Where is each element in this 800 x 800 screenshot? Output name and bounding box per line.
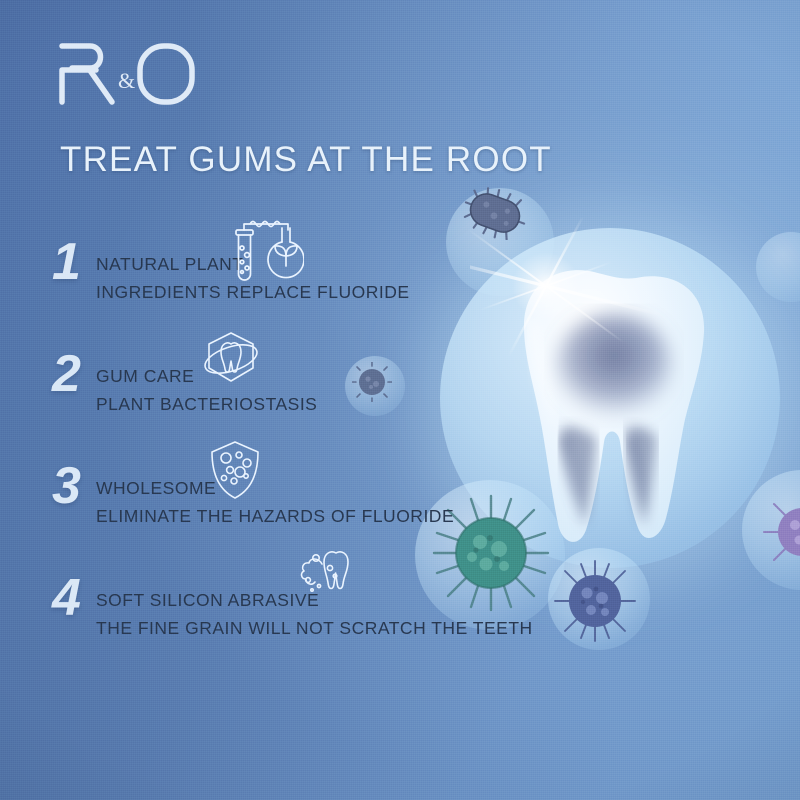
feature-line-2: ELIMINATE THE HAZARDS OF FLUORIDE bbox=[96, 502, 566, 530]
feature-item-1: 1 NATURAL PLANT INGREDIENTS REPLACE FLUO… bbox=[46, 232, 566, 344]
feature-line-1: NATURAL PLANT bbox=[96, 250, 244, 278]
purple-spiky-virus-icon bbox=[762, 492, 800, 572]
feature-text: SOFT SILICON ABRASIVE THE FINE GRAIN WIL… bbox=[96, 586, 566, 643]
page-title: TREAT GUMS AT THE ROOT bbox=[60, 140, 552, 180]
feature-text: GUM CARE PLANT BACTERIOSTASIS bbox=[96, 362, 566, 419]
feature-line-2: INGREDIENTS REPLACE FLUORIDE bbox=[96, 278, 566, 306]
feature-line-1: WHOLESOME bbox=[96, 474, 216, 502]
poster-canvas: & R&O TREAT GUMS AT THE ROOT 1 NATURAL P… bbox=[0, 0, 800, 800]
feature-line-2: THE FINE GRAIN WILL NOT SCRATCH THE TEET… bbox=[96, 614, 566, 642]
feature-line-2: PLANT BACTERIOSTASIS bbox=[96, 390, 566, 418]
feature-text: WHOLESOME ELIMINATE THE HAZARDS OF FLUOR… bbox=[96, 474, 566, 531]
feature-item-2: 2 GUM CARE PLANT BACTERIOSTASIS bbox=[46, 344, 566, 456]
feature-line-1: SOFT SILICON ABRASIVE bbox=[96, 586, 319, 614]
halo-bubble-top-right bbox=[756, 232, 800, 302]
brand-logo: & R&O bbox=[56, 36, 246, 106]
feature-item-3: 3 WHOLESOME ELIMINATE THE HAZARDS OF FLU… bbox=[46, 456, 566, 568]
feature-line-1: GUM CARE bbox=[96, 362, 194, 390]
feature-item-4: 4 SOFT SILICON ABRASIVE THE FINE GRAIN W… bbox=[46, 568, 566, 680]
feature-number: 2 bbox=[52, 348, 81, 400]
feature-number: 1 bbox=[52, 236, 81, 288]
halo-bubble-right bbox=[742, 470, 800, 590]
feature-number: 3 bbox=[52, 460, 81, 512]
feature-list: 1 NATURAL PLANT INGREDIENTS REPLACE FLUO… bbox=[46, 232, 566, 680]
feature-text: NATURAL PLANT INGREDIENTS REPLACE FLUORI… bbox=[96, 250, 566, 307]
svg-text:&: & bbox=[118, 68, 135, 93]
feature-number: 4 bbox=[52, 572, 81, 624]
